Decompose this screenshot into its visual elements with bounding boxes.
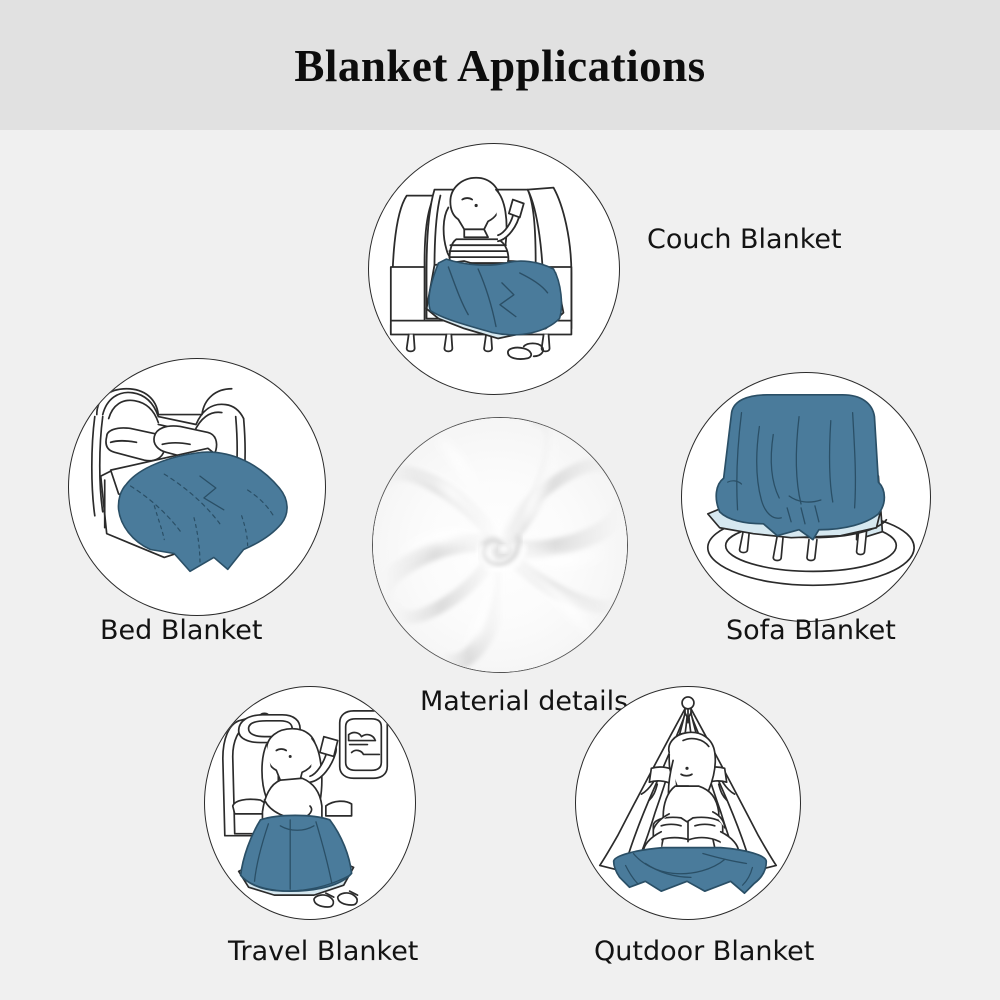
media-circle-outdoor	[575, 686, 801, 920]
media-circle-travel	[204, 686, 416, 920]
infographic-page: Blanket Applications	[0, 0, 1000, 1000]
label-travel-blanket: Travel Blanket	[228, 938, 418, 965]
girl-reading-in-tent-on-blanket-icon	[576, 687, 800, 919]
woman-in-airplane-seat-with-blanket-icon	[205, 687, 415, 919]
fleece-fabric-swirl-photo	[373, 418, 627, 672]
woman-on-armchair-with-blanket-icon	[369, 144, 619, 394]
media-circle-sofa	[681, 372, 931, 622]
label-material-details: Material details	[420, 688, 628, 715]
bed-with-blanket-icon	[69, 359, 325, 615]
label-outdoor-blanket: Qutdoor Blanket	[594, 938, 814, 965]
media-circle-bed	[68, 358, 326, 616]
label-couch-blanket: Couch Blanket	[647, 226, 842, 253]
sofa-draped-with-blanket-icon	[682, 373, 930, 621]
media-circle-couch	[368, 143, 620, 395]
media-circle-material	[372, 417, 628, 673]
label-sofa-blanket: Sofa Blanket	[726, 617, 896, 644]
page-title: Blanket Applications	[0, 44, 1000, 89]
label-bed-blanket: Bed Blanket	[100, 617, 262, 644]
